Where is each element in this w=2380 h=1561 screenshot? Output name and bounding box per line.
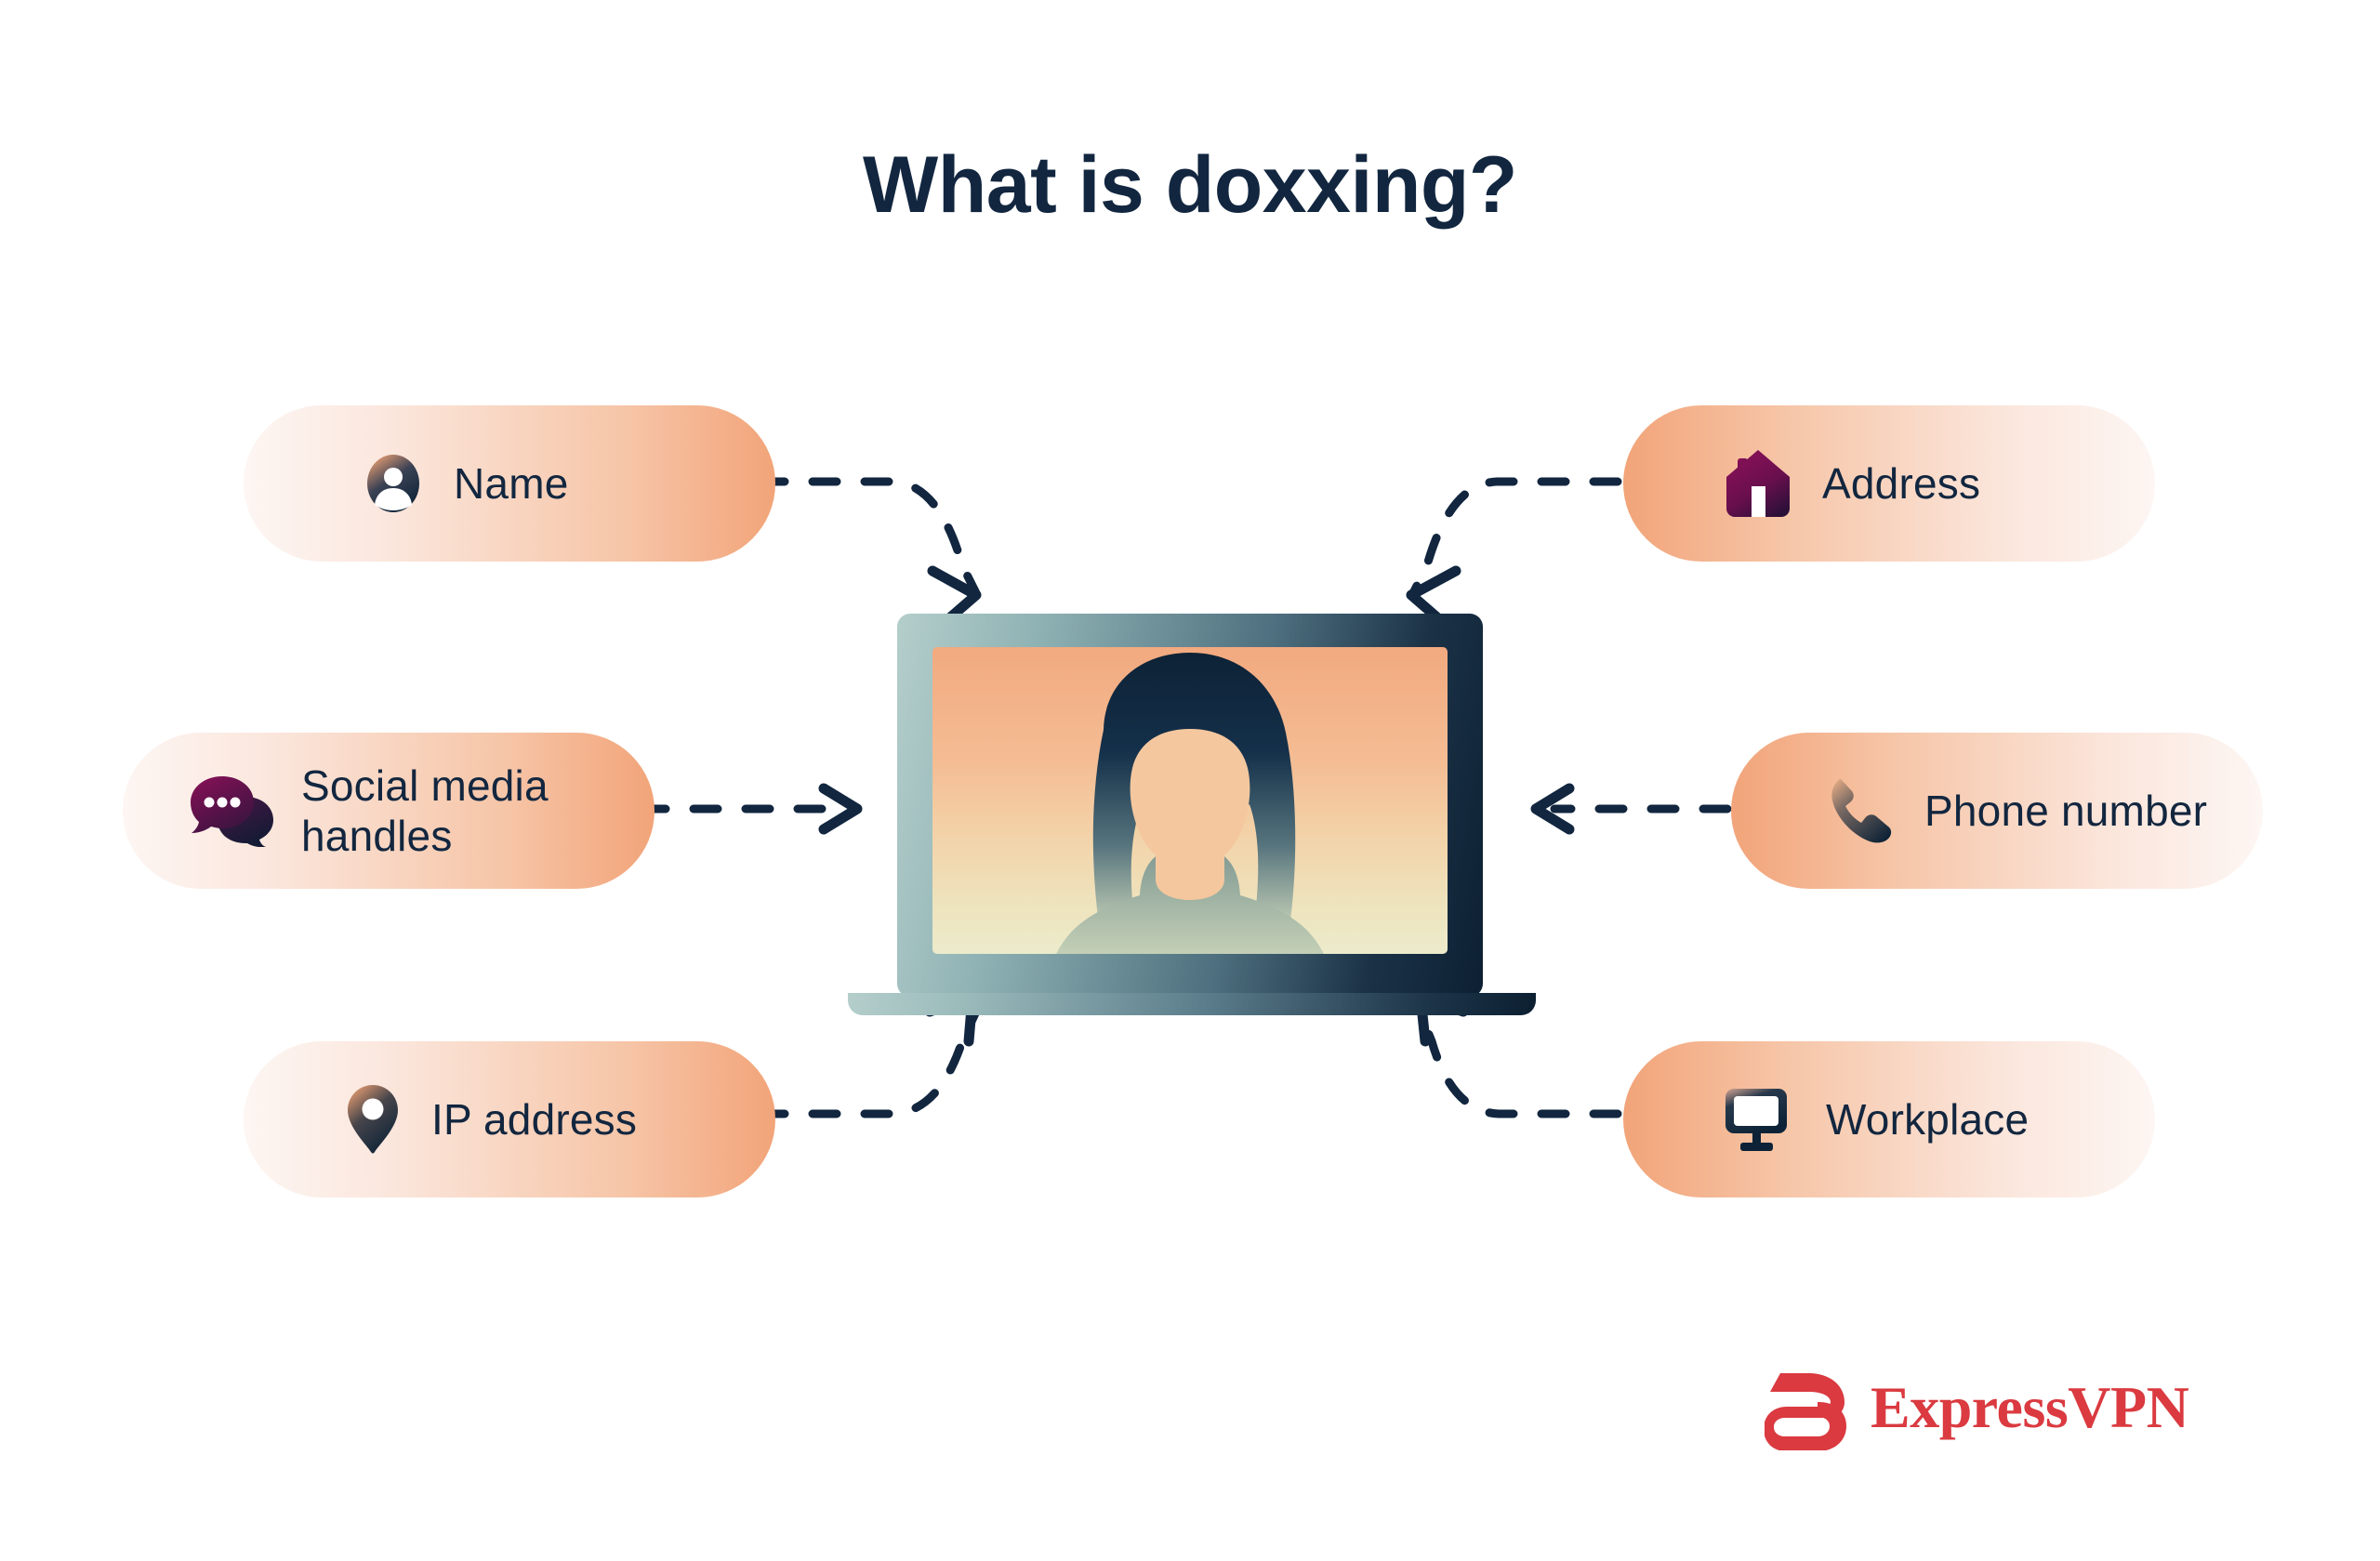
phone-handset-icon: [1831, 778, 1893, 843]
pill-name[interactable]: Name: [244, 405, 775, 562]
arrow-phone-to-laptop: [1536, 788, 1727, 829]
expressvpn-e-logo-icon: [1765, 1365, 1850, 1450]
pill-social-media[interactable]: Social media handles: [123, 733, 654, 889]
laptop-screen: [932, 647, 1448, 954]
pill-address[interactable]: Address: [1623, 405, 2155, 562]
pill-phone-number[interactable]: Phone number: [1731, 733, 2263, 889]
chat-bubbles-icon: [190, 774, 275, 847]
infographic-canvas: What is doxxing? .dash { fill: none; str…: [0, 0, 2380, 1561]
arrow-social-to-laptop: [641, 788, 857, 829]
pill-address-label: Address: [1822, 458, 1980, 509]
map-pin-icon: [346, 1084, 400, 1155]
pill-ip-label: IP address: [431, 1094, 637, 1144]
pill-ip-address[interactable]: IP address: [244, 1041, 775, 1197]
pill-workplace-label: Workplace: [1826, 1094, 2029, 1144]
woman-silhouette-icon: [932, 647, 1448, 954]
laptop-base: [848, 993, 1536, 1015]
pill-workplace[interactable]: Workplace: [1623, 1041, 2155, 1197]
expressvpn-logo[interactable]: ExpressVPN: [1765, 1365, 2188, 1450]
arrow-name-to-laptop: [760, 482, 976, 619]
house-icon: [1725, 449, 1791, 518]
person-avatar-icon: [364, 455, 422, 512]
laptop-illustration: [848, 614, 1536, 1015]
pill-phone-label: Phone number: [1924, 786, 2207, 836]
arrow-address-to-laptop: [1411, 482, 1618, 619]
laptop-lid: [897, 614, 1483, 997]
page-title: What is doxxing?: [0, 141, 2380, 230]
pill-name-label: Name: [454, 458, 569, 509]
monitor-icon: [1724, 1087, 1794, 1152]
pill-social-label: Social media handles: [301, 761, 549, 862]
expressvpn-wordmark: ExpressVPN: [1871, 1378, 2188, 1437]
